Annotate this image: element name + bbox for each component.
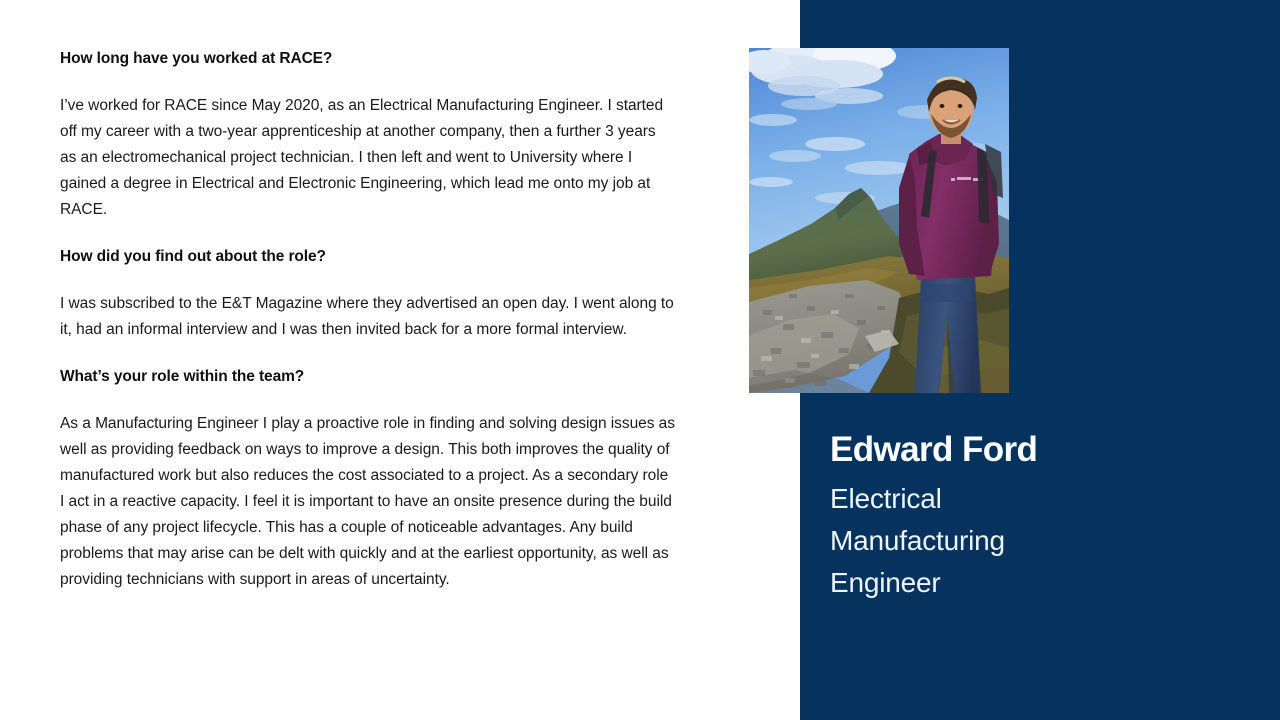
- qa-answer: As a Manufacturing Engineer I play a pro…: [60, 411, 675, 593]
- qa-block: How long have you worked at RACE? I’ve w…: [60, 48, 675, 223]
- person-role: Electrical Manufacturing Engineer: [830, 478, 1045, 604]
- profile-slide: How long have you worked at RACE? I’ve w…: [0, 0, 1280, 720]
- profile-name-block: Edward Ford Electrical Manufacturing Eng…: [830, 428, 1250, 604]
- qa-block: How did you find out about the role? I w…: [60, 246, 675, 343]
- qa-question: How long have you worked at RACE?: [60, 48, 675, 70]
- qa-answer: I’ve worked for RACE since May 2020, as …: [60, 93, 675, 223]
- profile-photo: [749, 48, 1009, 393]
- person-name: Edward Ford: [830, 428, 1250, 472]
- qa-answer: I was subscribed to the E&T Magazine whe…: [60, 291, 675, 343]
- qa-question: What’s your role within the team?: [60, 366, 675, 388]
- profile-photo-image: [749, 48, 1009, 393]
- interview-article: How long have you worked at RACE? I’ve w…: [60, 48, 675, 593]
- qa-question: How did you find out about the role?: [60, 246, 675, 268]
- qa-block: What’s your role within the team? As a M…: [60, 366, 675, 593]
